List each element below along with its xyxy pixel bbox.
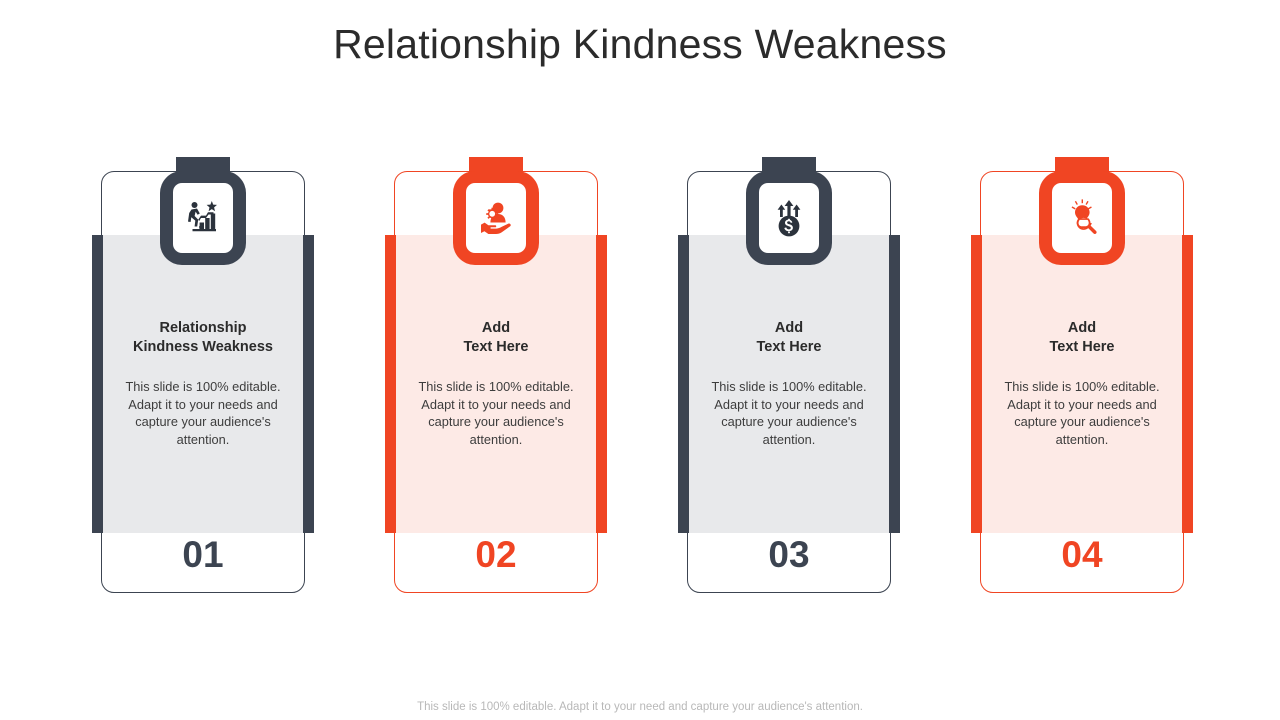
card-side-bar-right: [889, 235, 900, 533]
person-climbing-bar-chart-star-icon: [173, 183, 233, 253]
card-side-bar-left: [678, 235, 689, 533]
footer-note: This slide is 100% editable. Adapt it to…: [0, 700, 1280, 715]
dollar-coin-growth-arrows-icon: [759, 183, 819, 253]
jar-body: [746, 171, 832, 265]
page-title: Relationship Kindness Weakness: [0, 20, 1280, 68]
card-body-text: This slide is 100% editable. Adapt it to…: [116, 378, 290, 448]
card-side-bar-right: [1182, 235, 1193, 533]
card-heading: Relationship Kindness Weakness: [101, 319, 305, 357]
info-card-04[interactable]: Add Text Here This slide is 100% editabl…: [971, 157, 1175, 593]
info-card-02[interactable]: Add Text Here This slide is 100% editabl…: [385, 157, 589, 593]
card-number: 02: [394, 532, 598, 578]
info-card-03[interactable]: Add Text Here This slide is 100% editabl…: [678, 157, 882, 593]
jar-icon-container: [733, 157, 845, 265]
card-number: 01: [101, 532, 305, 578]
jar-icon-container: [440, 157, 552, 265]
jar-body: [453, 171, 539, 265]
jar-body: [1039, 171, 1125, 265]
card-heading: Add Text Here: [394, 319, 598, 357]
card-side-bar-left: [971, 235, 982, 533]
card-side-bar-right: [303, 235, 314, 533]
hand-holding-person-gear-icon: [466, 183, 526, 253]
card-number: 04: [980, 532, 1184, 578]
slide-canvas: Relationship Kindness Weakness: [0, 0, 1280, 720]
card-heading: Add Text Here: [687, 319, 891, 357]
card-side-bar-left: [385, 235, 396, 533]
card-heading: Add Text Here: [980, 319, 1184, 357]
cards-row: Relationship Kindness Weakness This slid…: [92, 157, 1192, 593]
lightbulb-magnifier-idea-icon: [1052, 183, 1112, 253]
card-body-text: This slide is 100% editable. Adapt it to…: [409, 378, 583, 448]
card-body-text: This slide is 100% editable. Adapt it to…: [702, 378, 876, 448]
jar-icon-container: [1026, 157, 1138, 265]
jar-body: [160, 171, 246, 265]
jar-icon-container: [147, 157, 259, 265]
card-side-bar-right: [596, 235, 607, 533]
card-side-bar-left: [92, 235, 103, 533]
info-card-01[interactable]: Relationship Kindness Weakness This slid…: [92, 157, 296, 593]
card-number: 03: [687, 532, 891, 578]
card-body-text: This slide is 100% editable. Adapt it to…: [995, 378, 1169, 448]
